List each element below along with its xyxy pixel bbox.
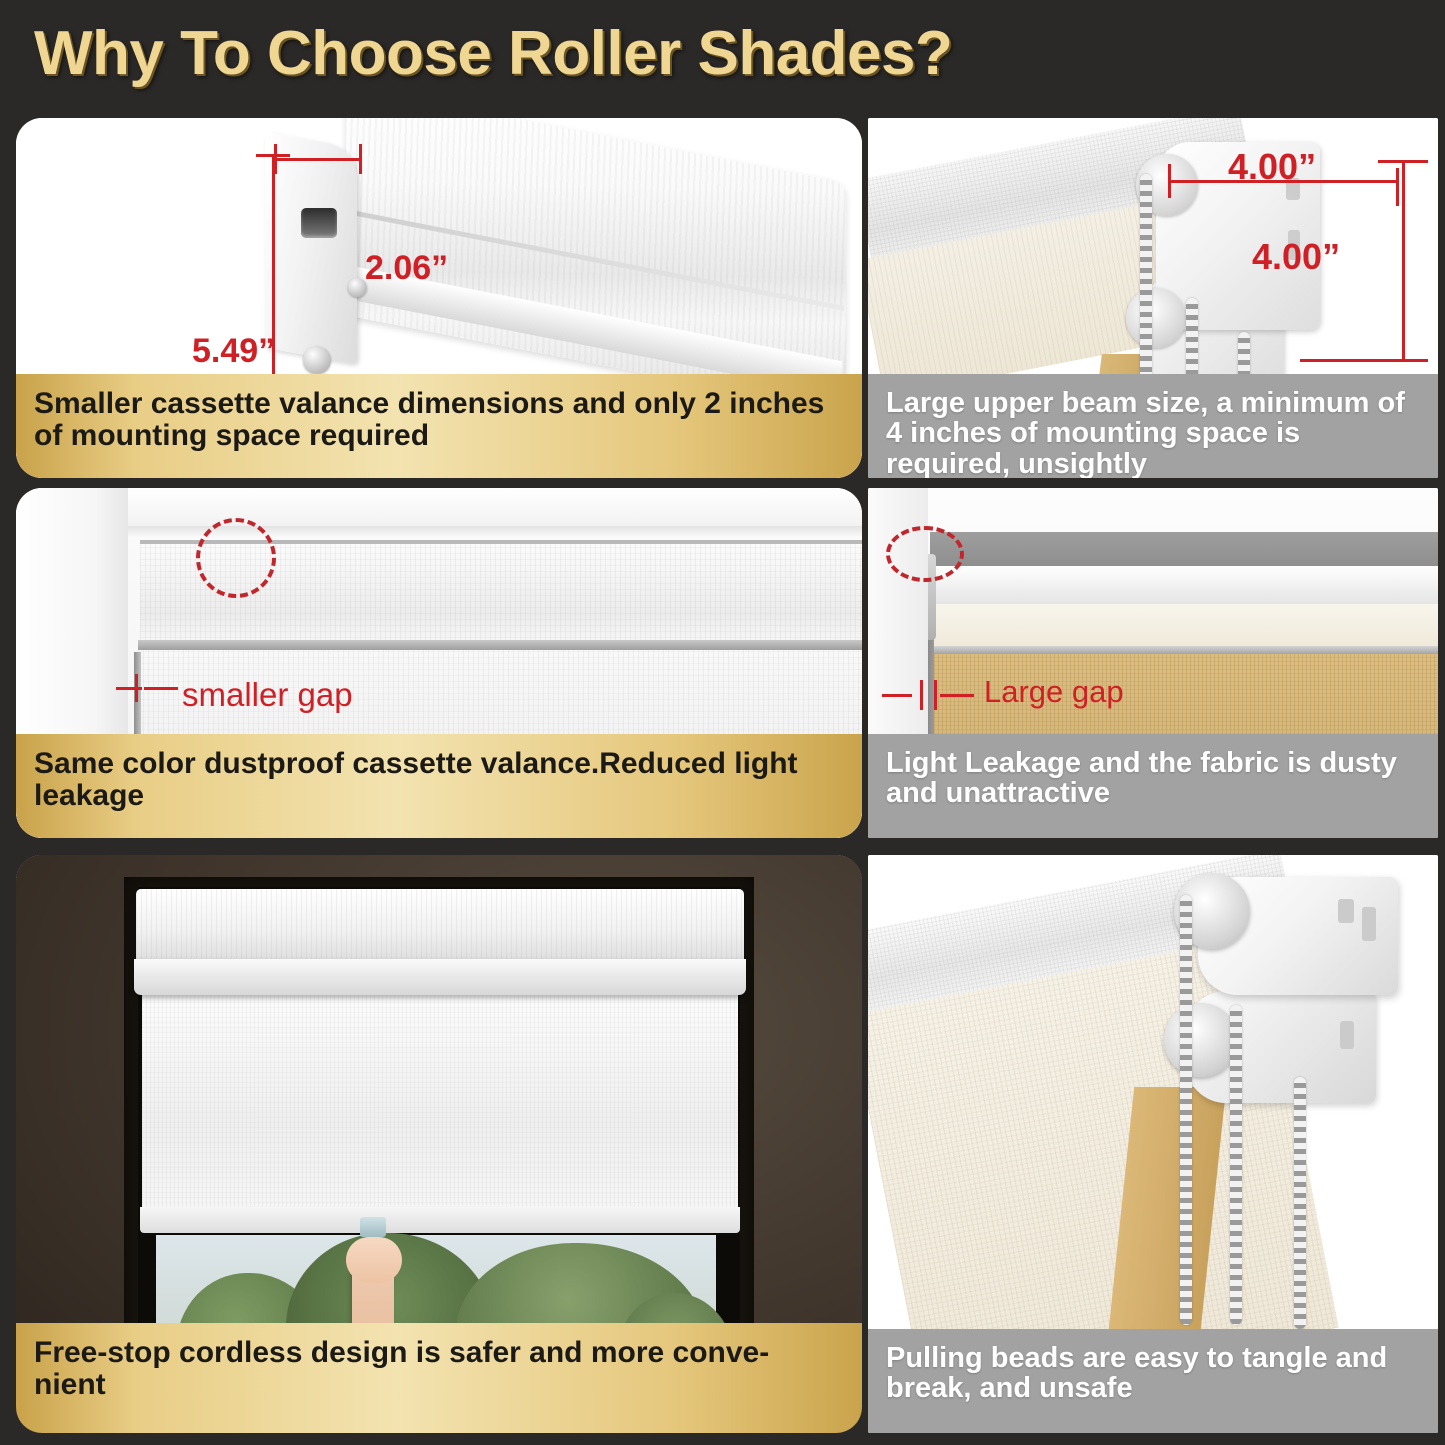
gap-arrow-marker — [920, 680, 923, 710]
bead-chain — [1180, 895, 1192, 1325]
bracket-notch — [1338, 899, 1354, 923]
width-dimension-tick — [1168, 164, 1171, 198]
width-dimension-tick — [359, 144, 362, 174]
shade-hem-bar — [140, 1207, 740, 1233]
panel-4: Large gap Light Leakage and the fabric i… — [868, 488, 1438, 838]
panel-5: Free-stop cordless design is safer and m… — [16, 855, 862, 1433]
valance-end-cap — [265, 132, 357, 364]
panel-3-caption: Same color dustproof cassette valance.Re… — [16, 734, 862, 838]
valance-slot — [301, 208, 337, 238]
comparison-grid: 2.06” 5.49” Smaller cassette valance dim… — [0, 0, 1445, 1445]
bracket-notch — [1362, 907, 1376, 941]
roll-end-disc — [1126, 288, 1186, 348]
hand-fingers — [346, 1237, 402, 1283]
chrome-edge — [930, 646, 1438, 654]
panel-6-caption: Pulling beads are easy to tangle and bre… — [868, 1329, 1438, 1433]
height-dimension-label: 5.49” — [192, 332, 275, 371]
upper-beam-dark — [930, 532, 1438, 568]
panel-1: 2.06” 5.49” Smaller cassette valance dim… — [16, 118, 862, 478]
bracket-notch — [1340, 1021, 1354, 1049]
highlight-circle — [196, 518, 276, 598]
cassette-headrail — [136, 889, 744, 965]
gap-arrow-marker — [135, 674, 138, 702]
panel-2: 4.00” 4.00” Large upper beam size, a min… — [868, 118, 1438, 478]
width-dimension-tick — [1396, 168, 1399, 206]
height-dimension-tick — [1378, 160, 1428, 163]
bead-chain — [1230, 1005, 1242, 1325]
panel-3: smaller gap Same color dustproof cassett… — [16, 488, 862, 838]
height-dimension-line — [1402, 160, 1405, 362]
valance-cream — [930, 604, 1438, 648]
width-dimension-label: 4.00” — [1228, 146, 1316, 188]
pull-tab — [360, 1217, 386, 1237]
gap-arrow-line — [116, 687, 142, 690]
panel-5-caption: Free-stop cordless design is safer and m… — [16, 1323, 862, 1433]
roll-end-disc — [1164, 1003, 1238, 1077]
panel-2-caption: Large upper beam size, a minimum of 4 in… — [868, 374, 1438, 478]
gap-arrow-line — [882, 694, 912, 697]
shade-middle-bar — [138, 640, 862, 650]
height-dimension-label: 4.00” — [1252, 236, 1340, 278]
gap-callout-label: smaller gap — [182, 676, 353, 714]
panel-4-caption: Light Leakage and the fabric is dusty an… — [868, 734, 1438, 838]
width-dimension-line — [274, 158, 362, 161]
shade-fabric — [142, 993, 738, 1213]
bead-chain — [1294, 1077, 1306, 1329]
gap-arrow-line — [144, 687, 178, 690]
gap-callout-label: Large gap — [984, 674, 1124, 710]
gap-arrow-marker — [934, 680, 937, 710]
panel-1-caption: Smaller cassette valance dimensions and … — [16, 374, 862, 478]
upper-beam-white — [930, 566, 1438, 606]
panel-6: Pulling beads are easy to tangle and bre… — [868, 855, 1438, 1433]
gap-arrow-line — [940, 694, 974, 697]
height-dimension-tick — [256, 154, 290, 157]
screw-icon — [303, 346, 331, 374]
height-dimension-tick — [1300, 359, 1428, 362]
width-dimension-label: 2.06” — [365, 249, 448, 288]
cassette-headrail-lip — [134, 959, 746, 995]
highlight-circle — [886, 526, 964, 582]
